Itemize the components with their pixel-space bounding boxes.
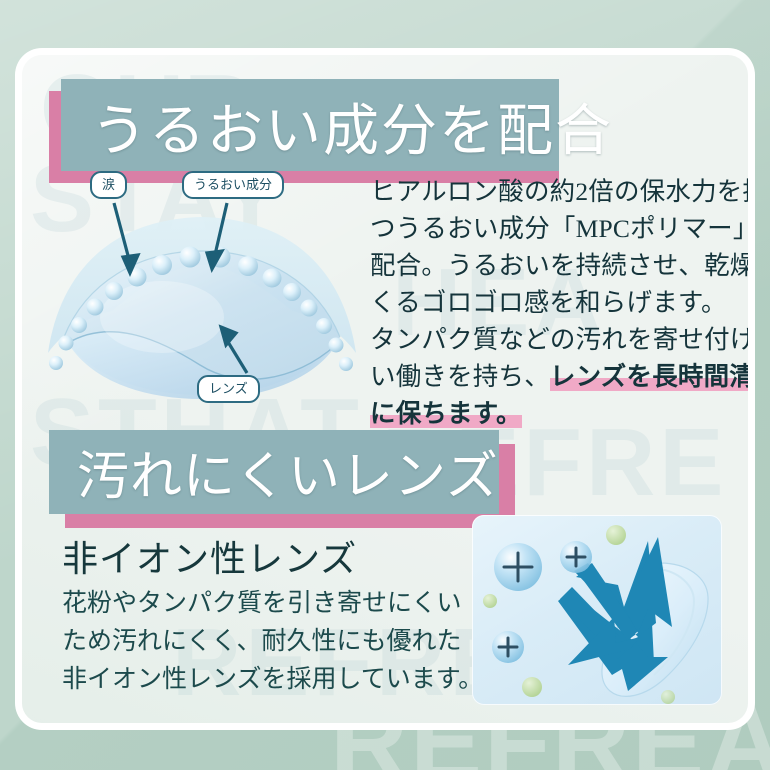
paragraph-line: ヒアルロン酸の約2倍の保水力を持 xyxy=(370,173,740,210)
paragraph-line-highlighted: に保ちます。 xyxy=(370,395,740,432)
paragraph-line: 配合。うるおいを持続させ、乾燥から xyxy=(370,247,740,284)
diagram-label-tear: 涙 xyxy=(90,171,127,199)
highlighted-text: に保ちます。 xyxy=(370,399,522,428)
highlighted-text: レンズを長時間清潔 xyxy=(550,362,748,391)
non-ionic-lens-illustration xyxy=(472,515,722,705)
advertisement-page: REFREAR OUR WA STAY HEA STHAT REFRE REFR… xyxy=(0,0,770,770)
repel-illustration-svg xyxy=(472,515,722,705)
section2-heading-text: 汚れにくいレンズ xyxy=(77,434,499,509)
paragraph-line: ため汚れにくく、耐久性にも優れた xyxy=(62,623,472,661)
content-card: OUR WA STAY HEA STHAT REFRE REFREAR うるおい… xyxy=(22,55,748,723)
section2-subheading: 非イオン性レンズ xyxy=(62,530,357,582)
diagram-label-moisture: うるおい成分 xyxy=(182,171,284,199)
section1-paragraph: ヒアルロン酸の約2倍の保水力を持 つうるおい成分「MPCポリマー」を 配合。うる… xyxy=(370,173,740,432)
lens-diagram-svg xyxy=(42,167,362,407)
paragraph-line-highlighted: い働きを持ち、レンズを長時間清潔 xyxy=(370,358,740,395)
section2-paragraph: 花粉やタンパク質を引き寄せにくい ため汚れにくく、耐久性にも優れた 非イオン性レ… xyxy=(62,585,472,699)
paragraph-line: くるゴロゴロ感を和らげます。 xyxy=(370,284,740,321)
lens-moisture-diagram: 涙 うるおい成分 レンズ xyxy=(42,167,362,407)
paragraph-line: 花粉やタンパク質を引き寄せにくい xyxy=(62,585,472,623)
diagram-label-lens: レンズ xyxy=(197,375,260,403)
paragraph-line: つうるおい成分「MPCポリマー」を xyxy=(370,210,740,247)
section2-heading: 汚れにくいレンズ xyxy=(49,430,509,530)
line-prefix: い働きを持ち、 xyxy=(370,362,550,391)
paragraph-line: 非イオン性レンズを採用しています。 xyxy=(62,661,472,699)
paragraph-line: タンパク質などの汚れを寄せ付けな xyxy=(370,321,740,358)
section1-heading-text: うるおい成分を配合 xyxy=(91,86,613,167)
